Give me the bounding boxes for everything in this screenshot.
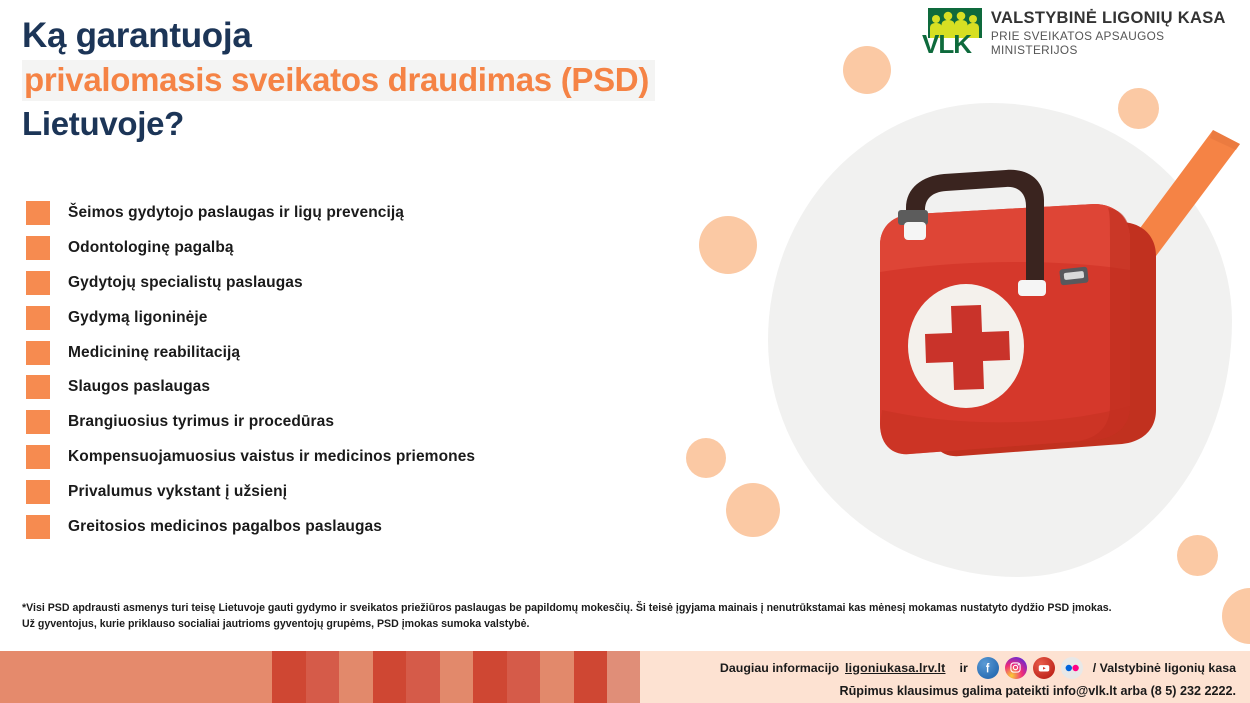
footnote: *Visi PSD apdrausti asmenys turi teisę L… (22, 600, 1222, 633)
title-line-1: Ką garantuoja (22, 18, 655, 53)
logo-name-line-2: PRIE SVEIKATOS APSAUGOS MINISTERIJOS (991, 29, 1250, 57)
list-item: Gydymą ligoninėje (26, 300, 475, 335)
decor-circle (843, 46, 891, 94)
website-link[interactable]: ligoniukasa.lrv.lt (845, 661, 945, 675)
contact-line: Rūpimus klausimus galima pateikti info@v… (839, 684, 1236, 698)
decor-circle (726, 483, 780, 537)
bag-clasp (1018, 280, 1046, 296)
bullet-square-icon (26, 271, 50, 295)
logo-name-line-1: VALSTYBINĖ LIGONIŲ KASA (991, 9, 1250, 28)
list-item: Brangiuosius tyrimus ir procedūras (26, 405, 475, 440)
decor-circle (1177, 535, 1218, 576)
list-item-label: Slaugos paslaugas (68, 378, 210, 396)
list-item-label: Greitosios medicinos pagalbos paslaugas (68, 518, 382, 536)
list-item: Šeimos gydytojo paslaugas ir ligų preven… (26, 196, 475, 231)
list-item: Kompensuojamuosius vaistus ir medicinos … (26, 440, 475, 475)
vlk-logo[interactable]: VLK VALSTYBINĖ LIGONIŲ KASA PRIE SVEIKAT… (922, 8, 1250, 58)
decor-circle (1222, 588, 1250, 644)
bullet-square-icon (26, 341, 50, 365)
youtube-icon[interactable] (1033, 657, 1055, 679)
bullet-square-icon (26, 480, 50, 504)
list-item-label: Šeimos gydytojo paslaugas ir ligų preven… (68, 204, 404, 222)
bullet-square-icon (26, 375, 50, 399)
decor-circle (699, 216, 757, 274)
footer-solid-block (0, 651, 272, 703)
bullet-square-icon (26, 236, 50, 260)
list-item-label: Odontologinę pagalbą (68, 239, 234, 257)
list-item-label: Kompensuojamuosius vaistus ir medicinos … (68, 448, 475, 466)
page-title: Ką garantuoja privalomasis sveikatos dra… (22, 18, 655, 140)
and-label: ir (960, 661, 968, 675)
bullet-square-icon (26, 515, 50, 539)
list-item: Medicininę reabilitaciją (26, 335, 475, 370)
list-item-label: Medicininę reabilitaciją (68, 344, 240, 362)
social-handle: / Valstybinė ligonių kasa (1093, 661, 1236, 675)
flickr-icon[interactable] (1061, 657, 1083, 679)
first-aid-kit-illustration (820, 110, 1240, 510)
instagram-icon[interactable] (1005, 657, 1027, 679)
bullet-square-icon (26, 410, 50, 434)
footnote-line-2: Už gyventojus, kurie priklauso socialiai… (22, 616, 1222, 632)
infographic-poster: Ką garantuoja privalomasis sveikatos dra… (0, 0, 1250, 703)
list-item: Odontologinę pagalbą (26, 231, 475, 266)
list-item: Privalumus vykstant į užsienį (26, 474, 475, 509)
list-item-label: Gydymą ligoninėje (68, 309, 208, 327)
title-line-2: privalomasis sveikatos draudimas (PSD) (22, 60, 655, 101)
footer-bar: Daugiau informacijo ligoniukasa.lrv.lt i… (0, 651, 1250, 703)
title-line-3: Lietuvoje? (22, 107, 655, 140)
bullet-square-icon (26, 445, 50, 469)
benefits-list: Šeimos gydytojo paslaugas ir ligų preven… (26, 196, 475, 544)
list-item-label: Gydytojų specialistų paslaugas (68, 274, 303, 292)
logo-vlk-text: VLK (922, 30, 984, 58)
list-item: Gydytojų specialistų paslaugas (26, 266, 475, 301)
list-item-label: Privalumus vykstant į užsienį (68, 483, 287, 501)
decor-circle (686, 438, 726, 478)
more-info-label: Daugiau informacijo (720, 661, 839, 675)
footer-stripe-pattern (272, 651, 640, 703)
bullet-square-icon (26, 201, 50, 225)
footer-content: Daugiau informacijo ligoniukasa.lrv.lt i… (640, 651, 1250, 703)
facebook-icon[interactable] (977, 657, 999, 679)
vlk-logo-mark: VLK (922, 8, 983, 58)
footnote-line-1: *Visi PSD apdrausti asmenys turi teisę L… (22, 600, 1222, 616)
list-item-label: Brangiuosius tyrimus ir procedūras (68, 413, 334, 431)
bullet-square-icon (26, 306, 50, 330)
list-item: Slaugos paslaugas (26, 370, 475, 405)
list-item: Greitosios medicinos pagalbos paslaugas (26, 509, 475, 544)
